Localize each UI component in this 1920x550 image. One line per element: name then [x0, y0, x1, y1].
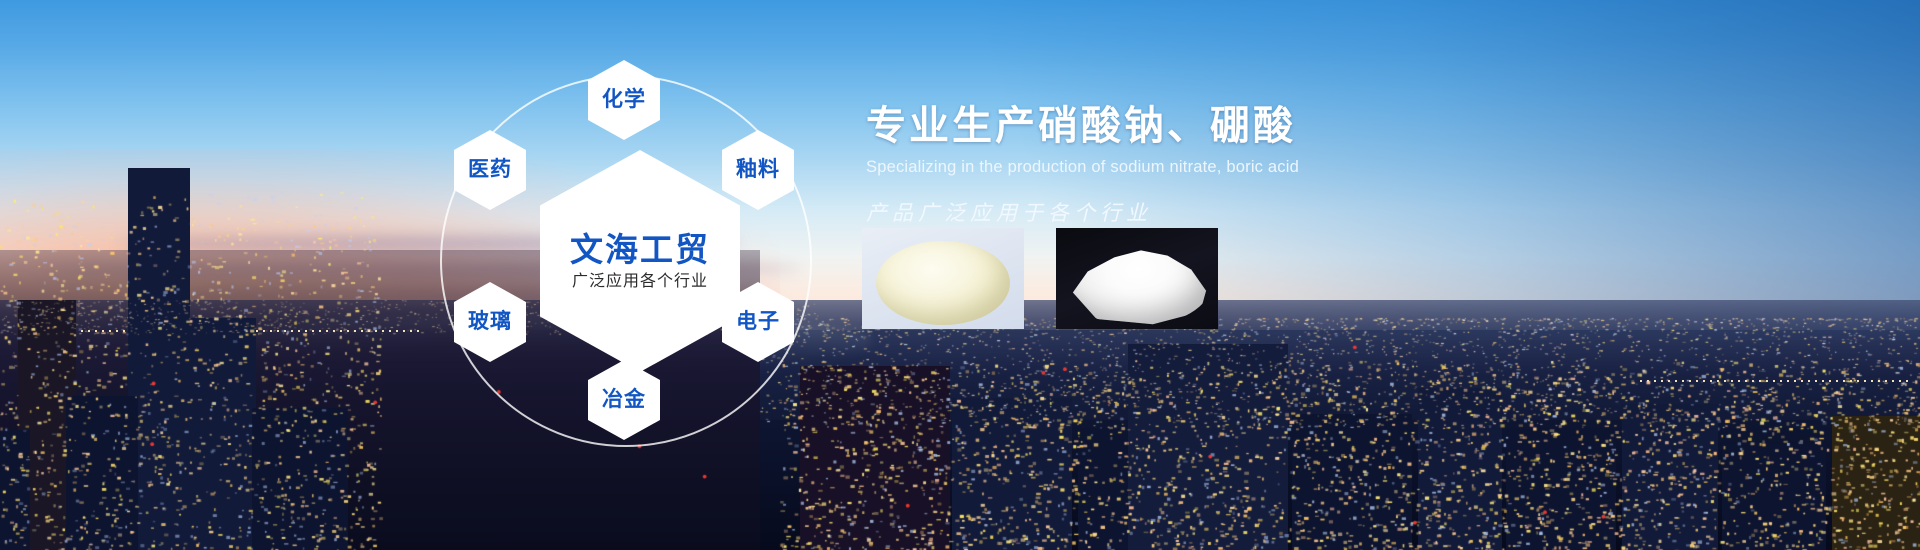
building: [952, 398, 1072, 550]
building: [1506, 436, 1616, 550]
building: [1722, 444, 1826, 550]
powder-pile-white: [1064, 238, 1212, 326]
building: [252, 408, 348, 550]
headline: 专业生产硝酸钠、硼酸: [866, 103, 1626, 149]
hex-electronics-label: 电子: [736, 310, 780, 334]
headline-block: 专业生产硝酸钠、硼酸 Specializing in the productio…: [866, 103, 1626, 227]
company-subtitle: 广泛应用各个行业: [572, 273, 708, 291]
product-photo-sodium-nitrate[interactable]: [862, 228, 1024, 329]
hex-medicine-label: 医药: [468, 158, 512, 182]
product-photo-strip: [862, 228, 1218, 329]
building: [186, 318, 256, 550]
headline-english: Specializing in the production of sodium…: [866, 158, 1626, 177]
hex-glaze-label: 釉料: [736, 158, 780, 182]
hex-glass-label: 玻璃: [468, 310, 512, 334]
building: [66, 396, 138, 550]
bridge-lights-right: [1640, 380, 1910, 382]
building: [1622, 404, 1718, 550]
hero-banner: 化学 釉料 电子 冶金 玻璃 医药 文海工贸 广泛应用各个行业 专业生产硝酸钠、…: [0, 0, 1920, 550]
building: [1418, 388, 1502, 550]
tagline: 产品广泛应用于各个行业: [866, 197, 1626, 227]
hex-metallurgy-label: 冶金: [602, 388, 646, 412]
powder-pile-pale-yellow: [876, 241, 1010, 325]
company-name: 文海工贸: [570, 231, 710, 269]
product-photo-boric-acid[interactable]: [1056, 228, 1218, 329]
building: [0, 430, 30, 550]
building: [1292, 414, 1412, 550]
hex-chemistry-label: 化学: [602, 88, 646, 112]
building: [1128, 344, 1288, 550]
building: [1832, 416, 1920, 550]
industry-hex-diagram: 化学 釉料 电子 冶金 玻璃 医药 文海工贸 广泛应用各个行业: [400, 20, 880, 520]
